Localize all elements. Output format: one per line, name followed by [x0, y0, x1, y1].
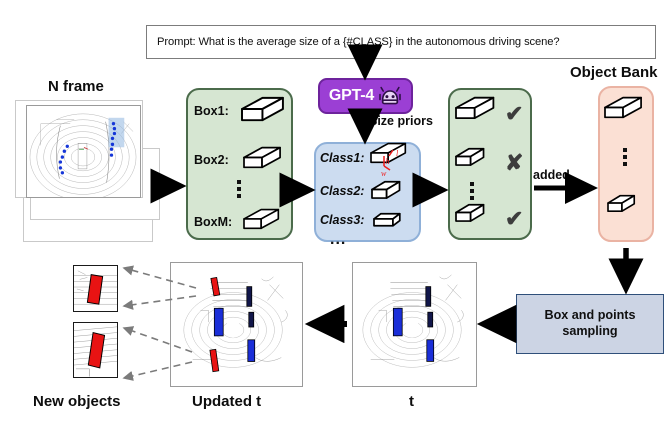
size-priors-label: Size priors: [369, 114, 433, 128]
object-bank-vertical-dots-icon: [623, 148, 627, 166]
prompt-text: Prompt: What is the average size of a {#…: [157, 36, 560, 48]
classes-row-1: Class1:: [320, 151, 364, 165]
added-label: added: [533, 168, 570, 182]
new-object-crop-2[interactable]: [73, 322, 118, 378]
prompt-textbox[interactable]: Prompt: What is the average size of a {#…: [146, 25, 656, 59]
boxes-row-2: Box2:: [194, 153, 229, 167]
classes-row-2: Class2:: [320, 184, 364, 198]
updated-t-caption: Updated t: [192, 393, 261, 410]
boxes-row-3: BoxM:: [194, 215, 232, 229]
class1-label: Class1:: [320, 151, 364, 165]
figure-canvas: Prompt: What is the average size of a {#…: [0, 0, 671, 421]
sampling-line-1: Box and points: [545, 308, 636, 322]
boxes-vertical-dots-icon: [237, 180, 241, 198]
sampling-text: Box and points sampling: [545, 308, 636, 339]
t-caption: t: [409, 393, 414, 410]
new-objects-caption: New objects: [33, 393, 121, 410]
t-pointcloud: [353, 263, 476, 386]
robot-icon: [378, 85, 402, 107]
updated-t-pointcloud: [171, 263, 302, 386]
box1-label: Box1:: [194, 104, 229, 118]
box-and-points-sampling-node[interactable]: Box and points sampling: [516, 294, 664, 354]
box2-label: Box2:: [194, 153, 229, 167]
gpt4-node[interactable]: GPT-4: [318, 78, 413, 114]
boxes-row-1: Box1:: [194, 104, 229, 118]
sampling-line-2: sampling: [562, 324, 617, 338]
filter-vertical-dots-icon: [470, 182, 474, 200]
crop-2-pointcloud: [74, 323, 117, 377]
check-mark-1: ✔: [505, 103, 523, 125]
n-frame-scene[interactable]: [26, 105, 141, 198]
cross-mark-1: ✘: [505, 152, 523, 174]
class3-label: Class3:: [320, 213, 364, 227]
class2-label: Class2:: [320, 184, 364, 198]
classes-row-3: Class3:: [320, 213, 364, 227]
t-scene[interactable]: [352, 262, 477, 387]
check-mark-2: ✔: [505, 208, 523, 230]
new-object-crop-1[interactable]: [73, 265, 118, 312]
classes-ellipsis: ...: [330, 237, 346, 243]
boxm-label: BoxM:: [194, 215, 232, 229]
crop-1-pointcloud: [74, 266, 117, 311]
updated-t-scene[interactable]: [170, 262, 303, 387]
n-frame-caption: N frame: [48, 78, 104, 95]
n-frame-pointcloud: [27, 106, 140, 197]
gpt4-label: GPT-4: [329, 87, 374, 105]
object-bank-caption: Object Bank: [570, 64, 658, 81]
